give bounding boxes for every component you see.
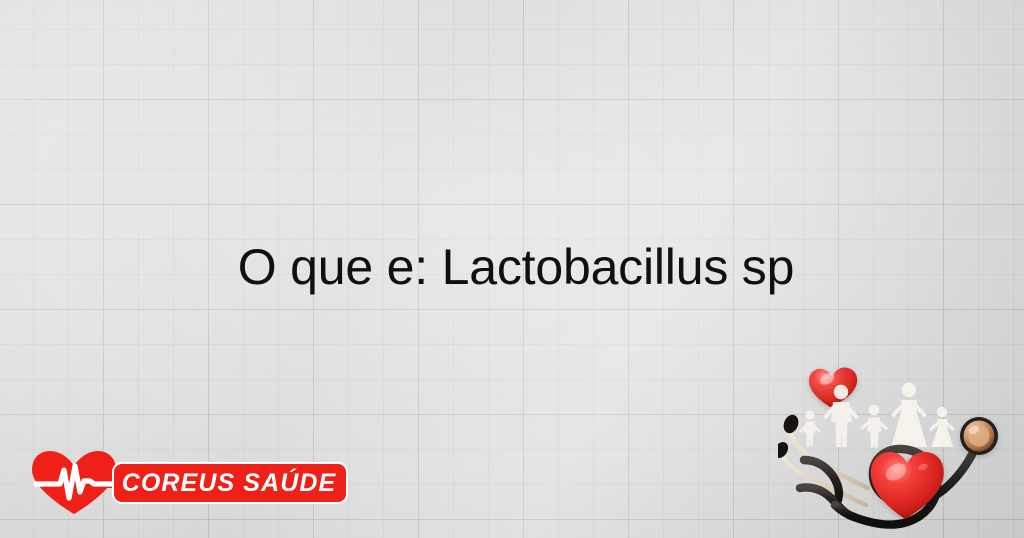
- stethoscope-hearts-family-illustration: [778, 348, 1024, 538]
- brand-logo[interactable]: COREUS SAÚDE: [28, 446, 348, 518]
- small-heart-icon: [809, 367, 857, 407]
- logo-wordmark-pill: COREUS SAÚDE: [112, 462, 348, 504]
- heart-with-heartbeat-icon: [28, 448, 120, 516]
- image-canvas: O que e: Lactobacillus sp COREUS SAÚDE: [0, 0, 1024, 538]
- page-title: O que e: Lactobacillus sp: [0, 238, 1024, 296]
- stethoscope-chestpiece: [960, 417, 998, 455]
- logo-wordmark-text: COREUS SAÚDE: [122, 469, 339, 498]
